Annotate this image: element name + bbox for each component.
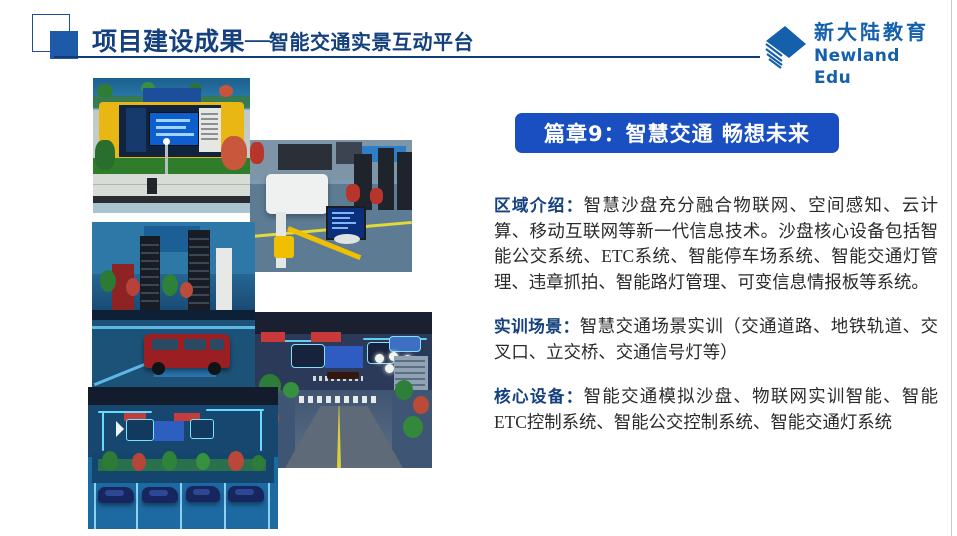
page-title-main: 项目建设成果 xyxy=(92,22,245,58)
chapter-banner: 篇章9：智慧交通 畅想未来 xyxy=(515,113,839,153)
brand-name-cn: 新大陆教育 xyxy=(814,21,932,45)
photo-smart-parking xyxy=(88,387,278,529)
photo-etc-gate xyxy=(250,140,412,272)
page-title-dash: — xyxy=(245,26,269,54)
page-title: 项目建设成果—智能交通实景互动平台 xyxy=(92,21,474,59)
photo-road-overview xyxy=(255,312,432,468)
section-core-equipment: 核心设备：智能交通模拟沙盘、物联网实训智能、智能ETC控制系统、智能公交控制系统… xyxy=(494,384,938,435)
slide-canvas: 项目建设成果—智能交通实景互动平台 新大陆教育 Newland Edu xyxy=(0,0,957,536)
slide-right-border xyxy=(951,0,952,536)
section-area-intro: 区域介绍：智慧沙盘充分融合物联网、空间感知、云计算、移动互联网等新一代信息技术。… xyxy=(494,193,938,295)
section-training-scene: 实训场景：智慧交通场景实训（交通道路、地铁轨道、交叉口、立交桥、交通信号灯等） xyxy=(494,314,938,365)
decoration-square-filled xyxy=(50,31,78,59)
brand-name-en: Newland Edu xyxy=(814,45,932,89)
description-body: 区域介绍：智慧沙盘充分融合物联网、空间感知、云计算、移动互联网等新一代信息技术。… xyxy=(494,193,938,435)
brand-logo-text: 新大陆教育 Newland Edu xyxy=(814,21,932,89)
newland-diamond-logo-icon xyxy=(762,24,808,70)
section-label-core-equipment: 核心设备： xyxy=(494,387,584,406)
section-label-training-scene: 实训场景： xyxy=(494,317,580,336)
section-label-area-intro: 区域介绍： xyxy=(494,196,584,215)
page-title-sub: 智能交通实景互动平台 xyxy=(269,26,474,55)
photo-bus-stop-kiosk xyxy=(93,78,250,213)
brand-logo: 新大陆教育 Newland Edu xyxy=(762,22,932,72)
photo-red-van-road xyxy=(92,222,255,390)
